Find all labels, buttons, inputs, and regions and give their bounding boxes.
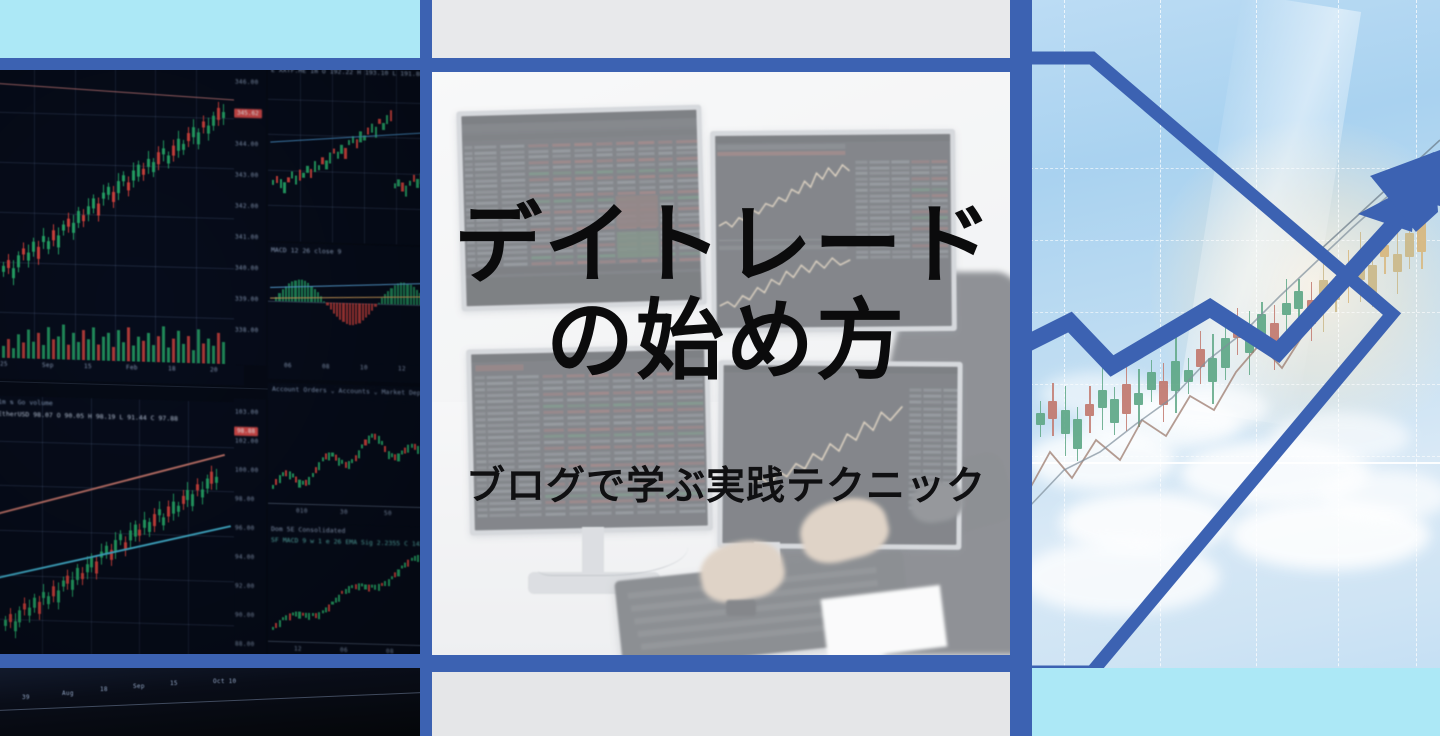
axis-label: 98.00 bbox=[235, 496, 255, 504]
table-row-cell bbox=[576, 199, 594, 203]
volume-bar bbox=[192, 350, 195, 363]
candlestick bbox=[416, 178, 418, 187]
candlestick bbox=[378, 584, 380, 591]
chart-window bbox=[0, 69, 236, 368]
table-row-cell bbox=[591, 506, 611, 509]
diamond-frame-overlay bbox=[1020, 0, 1440, 736]
table-row-cell bbox=[591, 488, 611, 491]
candle-wick bbox=[193, 119, 194, 144]
table-row-cell bbox=[923, 413, 941, 416]
table-row-cell bbox=[923, 457, 941, 460]
candlestick bbox=[358, 584, 360, 591]
candle-wick bbox=[68, 212, 69, 232]
table-row-cell bbox=[678, 190, 700, 194]
macd-histogram-bar bbox=[310, 286, 312, 302]
table-row-cell bbox=[545, 501, 565, 504]
macd-histogram-bar bbox=[381, 298, 383, 304]
wristwatch bbox=[726, 600, 756, 616]
table-row-cell bbox=[911, 171, 929, 174]
candlestick bbox=[112, 192, 115, 202]
axis-label: 06 bbox=[284, 362, 292, 369]
candle-wick bbox=[163, 140, 164, 161]
table-row-cell bbox=[589, 374, 609, 377]
candlestick bbox=[333, 149, 335, 154]
table-row-cell bbox=[636, 457, 654, 460]
table-row-cell bbox=[555, 238, 573, 242]
table-row-cell bbox=[932, 205, 948, 208]
table-row-cell bbox=[567, 380, 585, 383]
table-row-cell bbox=[615, 499, 633, 502]
axis-label: 18 bbox=[168, 365, 176, 372]
table-row-cell bbox=[943, 438, 958, 441]
table-row-cell bbox=[529, 177, 549, 181]
table-row-cell bbox=[528, 149, 548, 153]
table-row-cell bbox=[503, 229, 527, 233]
volume-bar bbox=[122, 343, 125, 362]
candlestick bbox=[37, 247, 40, 259]
table-row-cell bbox=[475, 406, 485, 409]
table-row-cell bbox=[598, 192, 614, 195]
candlestick bbox=[394, 183, 396, 188]
table-row-cell bbox=[465, 180, 473, 183]
table-row-cell bbox=[476, 460, 486, 463]
table-row-cell bbox=[477, 229, 499, 233]
macd-histogram-bar bbox=[378, 302, 380, 303]
current-price-tag: 345.62 bbox=[234, 109, 262, 119]
candlestick bbox=[407, 445, 409, 453]
table-row-cell bbox=[614, 421, 632, 424]
table-row-cell bbox=[678, 426, 704, 430]
axis-label: 88.00 bbox=[235, 641, 255, 649]
chart-title-bar: E XXTF.ME 1m O 192.22 H 193.10 L 191.88 … bbox=[271, 69, 421, 79]
table-row-cell bbox=[589, 416, 609, 419]
axis-label: 100.00 bbox=[235, 467, 258, 475]
candlestick bbox=[107, 187, 110, 195]
table-row-cell bbox=[856, 228, 868, 231]
table-row-cell bbox=[576, 221, 594, 225]
candlestick bbox=[401, 566, 403, 569]
monitor-bezel-lower: 39 Aug 18 Sep 15 Oct 10 bbox=[0, 668, 421, 736]
table-row-cell bbox=[912, 227, 930, 230]
table-row-cell bbox=[892, 222, 910, 225]
volume-bar bbox=[162, 326, 165, 362]
candlestick bbox=[302, 612, 304, 615]
table-row-cell bbox=[517, 405, 539, 408]
candlestick bbox=[27, 253, 30, 261]
table-row-cell bbox=[478, 514, 488, 517]
candlestick bbox=[345, 588, 347, 593]
table-row-cell bbox=[519, 471, 541, 474]
table-row-cell bbox=[932, 210, 948, 213]
table-row-cell bbox=[597, 170, 613, 173]
candle-wick bbox=[58, 227, 59, 254]
candlestick bbox=[87, 206, 90, 214]
table-row-cell bbox=[477, 484, 487, 487]
table-row-cell bbox=[518, 441, 540, 444]
candlestick bbox=[132, 170, 135, 180]
candlestick bbox=[153, 514, 156, 526]
candlestick bbox=[391, 454, 393, 458]
axis-label: 342.00 bbox=[235, 203, 258, 211]
candlestick bbox=[177, 139, 180, 151]
table-row-cell bbox=[519, 477, 541, 480]
table-row-cell bbox=[677, 396, 703, 400]
table-row-cell bbox=[856, 194, 868, 197]
candlestick bbox=[331, 453, 333, 457]
table-row-cell bbox=[870, 233, 890, 236]
table-row-cell bbox=[543, 393, 563, 396]
table-row-cell bbox=[909, 426, 921, 429]
candlestick bbox=[66, 575, 69, 583]
table-row-cell bbox=[466, 208, 474, 211]
table-row-cell bbox=[503, 257, 527, 261]
volume-bar bbox=[187, 336, 190, 364]
table-row-cell bbox=[501, 156, 525, 160]
table-row-cell bbox=[678, 207, 700, 211]
candlestick bbox=[355, 455, 357, 461]
table-row-cell bbox=[639, 186, 655, 189]
volume-bar bbox=[2, 346, 5, 358]
candlestick bbox=[361, 584, 363, 587]
table-row-cell bbox=[517, 399, 539, 402]
volume-bar bbox=[177, 330, 180, 363]
candlestick bbox=[82, 215, 85, 221]
table-row-cell bbox=[519, 489, 541, 492]
table-row-cell bbox=[892, 188, 910, 191]
table-row-cell bbox=[636, 433, 654, 436]
table-row-cell bbox=[912, 177, 930, 180]
candle-wick bbox=[43, 228, 44, 249]
table-row-cell bbox=[477, 496, 487, 499]
table-row-cell bbox=[568, 428, 586, 431]
table-row-cell bbox=[856, 239, 868, 242]
table-row-cell bbox=[529, 155, 549, 159]
table-row-cell bbox=[891, 172, 909, 175]
candlestick bbox=[167, 507, 170, 517]
candlestick bbox=[295, 477, 297, 483]
candle-wick bbox=[133, 162, 134, 187]
table-row-cell bbox=[503, 234, 527, 238]
candlestick bbox=[338, 458, 340, 466]
table-row-cell bbox=[545, 465, 565, 468]
axis-label: 346.00 bbox=[235, 79, 258, 87]
table-row-cell bbox=[678, 462, 704, 466]
table-row-cell bbox=[658, 426, 674, 429]
table-row-cell bbox=[517, 393, 539, 396]
table-row-cell bbox=[531, 233, 551, 237]
table-row-cell bbox=[943, 395, 957, 398]
macd-histogram-bar bbox=[358, 303, 360, 323]
axis-label: 344.00 bbox=[235, 141, 258, 149]
table-row-cell bbox=[909, 432, 921, 435]
candlestick bbox=[295, 612, 297, 617]
table-row-cell bbox=[590, 422, 610, 425]
table-row-cell bbox=[477, 472, 487, 475]
candlestick bbox=[325, 608, 327, 613]
table-row-cell bbox=[476, 418, 486, 421]
table-row-cell bbox=[590, 446, 610, 449]
table-row-cell bbox=[531, 228, 551, 232]
candlestick bbox=[381, 441, 383, 445]
candlestick bbox=[368, 585, 370, 592]
table-row-cell bbox=[676, 140, 698, 144]
left-panel-top-border bbox=[0, 58, 432, 70]
candlestick bbox=[364, 439, 366, 445]
volume-bar bbox=[207, 339, 210, 364]
candlestick bbox=[157, 152, 160, 164]
table-row-cell bbox=[931, 171, 947, 174]
table-row-cell bbox=[679, 498, 705, 502]
banner-canvas: 346.00345.50344.00343.00342.00341.00340.… bbox=[0, 0, 1440, 736]
volume-bar bbox=[107, 333, 110, 361]
candle-wick bbox=[144, 511, 145, 534]
candlestick bbox=[142, 169, 145, 175]
table-row-cell bbox=[568, 458, 586, 461]
candle-wick bbox=[153, 158, 154, 177]
candle-wick bbox=[168, 501, 169, 523]
table-row-cell bbox=[591, 476, 611, 479]
candlestick bbox=[42, 592, 45, 598]
candle-wick bbox=[197, 479, 198, 497]
table-row-cell bbox=[598, 209, 614, 212]
table-row-cell bbox=[679, 246, 701, 250]
candlestick bbox=[378, 436, 380, 444]
table-row-cell bbox=[613, 397, 631, 400]
table-row-cell bbox=[475, 388, 485, 391]
table-row-cell bbox=[489, 496, 515, 500]
table-row-cell bbox=[518, 423, 540, 426]
candlestick bbox=[312, 613, 314, 616]
table-row-cell bbox=[615, 487, 633, 490]
candlestick bbox=[287, 177, 289, 182]
macd-histogram-bar bbox=[323, 301, 325, 302]
left-chart-cluster: 346.00345.50344.00343.00342.00341.00340.… bbox=[0, 69, 421, 655]
table-row-cell bbox=[487, 406, 513, 410]
left-photo-panel: 346.00345.50344.00343.00342.00341.00340.… bbox=[0, 0, 432, 736]
table-row-cell bbox=[657, 390, 673, 393]
table-row-cell bbox=[577, 232, 595, 236]
candlestick bbox=[182, 496, 185, 504]
volume-bar bbox=[7, 339, 10, 358]
volume-bar bbox=[202, 343, 205, 363]
axis-label: 90.00 bbox=[235, 612, 255, 620]
volume-bar bbox=[137, 336, 140, 361]
candle-wick bbox=[13, 260, 14, 285]
candlestick bbox=[14, 622, 17, 632]
center-panel-top-border bbox=[432, 58, 1020, 72]
table-row-cell bbox=[679, 468, 705, 472]
candlestick bbox=[312, 473, 314, 477]
candle-wick bbox=[108, 183, 109, 200]
candlestick bbox=[340, 144, 342, 153]
table-row-cell bbox=[599, 254, 615, 257]
volume-bar bbox=[117, 330, 120, 361]
table-row-cell bbox=[597, 187, 613, 190]
macd-histogram-bar bbox=[326, 302, 328, 305]
candlestick bbox=[97, 203, 100, 215]
table-row-cell bbox=[597, 181, 613, 184]
candlestick bbox=[158, 510, 161, 516]
table-row-cell bbox=[931, 166, 947, 169]
table-row-cell bbox=[658, 450, 674, 453]
table-row-cell bbox=[487, 394, 513, 398]
candlestick bbox=[182, 144, 185, 150]
grid-line bbox=[0, 262, 236, 270]
table-row-cell bbox=[678, 218, 700, 222]
axis-label: 341.00 bbox=[235, 234, 258, 242]
candlestick bbox=[186, 490, 189, 500]
chart-window: 346.00345.50344.00343.00342.00341.00340.… bbox=[234, 69, 266, 365]
table-row-cell bbox=[923, 407, 941, 410]
center-panel-bottom-border bbox=[432, 655, 1020, 672]
table-row-cell bbox=[658, 444, 674, 447]
macd-histogram-bar bbox=[403, 283, 405, 305]
candlestick bbox=[391, 576, 393, 579]
candlestick bbox=[62, 581, 65, 587]
table-row-cell bbox=[502, 217, 526, 221]
table-row-cell bbox=[659, 510, 675, 513]
table-row-cell bbox=[678, 456, 704, 460]
candle-wick bbox=[178, 131, 179, 158]
axis-label: 102.00 bbox=[235, 438, 258, 446]
table-row-cell bbox=[639, 169, 655, 172]
table-row-cell bbox=[660, 213, 674, 216]
candlestick bbox=[328, 605, 330, 612]
table-row-cell bbox=[545, 471, 565, 474]
table-row-cell bbox=[659, 174, 673, 177]
candle-wick bbox=[53, 224, 54, 246]
table-row-cell bbox=[544, 453, 564, 456]
table-row-cell bbox=[467, 230, 475, 233]
table-row-cell bbox=[613, 403, 631, 406]
candlestick bbox=[302, 480, 304, 484]
table-row-cell bbox=[637, 475, 655, 478]
table-row-cell bbox=[575, 187, 593, 191]
candlestick bbox=[298, 612, 300, 619]
table-row-cell bbox=[659, 504, 675, 507]
table-row-cell bbox=[659, 492, 675, 495]
table-row-cell bbox=[554, 216, 572, 220]
table-row-cell bbox=[661, 252, 675, 255]
axis-label: 103.00 bbox=[235, 409, 258, 417]
macd-histogram-bar bbox=[400, 283, 402, 305]
monitor-top-right-screen bbox=[715, 134, 952, 328]
table-row-cell bbox=[577, 227, 595, 231]
table-row-cell bbox=[614, 451, 632, 454]
table-row-cell bbox=[591, 494, 611, 497]
table-row-cell bbox=[891, 160, 909, 163]
volume-bar bbox=[127, 327, 130, 361]
table-row-cell bbox=[659, 480, 675, 483]
table-row-cell bbox=[464, 152, 472, 155]
candle-wick bbox=[106, 542, 107, 559]
volume-bar bbox=[157, 336, 160, 362]
table-row-cell bbox=[590, 428, 610, 431]
table-row-cell bbox=[636, 445, 654, 448]
table-row-cell bbox=[636, 463, 654, 466]
candlestick bbox=[322, 610, 324, 613]
candlestick bbox=[62, 224, 65, 230]
table-row-cell bbox=[892, 256, 910, 259]
candlestick bbox=[23, 603, 26, 609]
left-panel-right-border bbox=[420, 0, 432, 736]
candle-wick bbox=[183, 490, 184, 510]
table-row-cell bbox=[465, 168, 473, 171]
table-row-cell bbox=[635, 403, 653, 406]
table-row-cell bbox=[617, 158, 635, 162]
table-row-cell bbox=[870, 222, 890, 225]
table-row-cell bbox=[477, 490, 487, 493]
candle-wick bbox=[192, 491, 193, 512]
table-row-cell bbox=[661, 230, 675, 233]
candlestick bbox=[167, 156, 170, 164]
table-row-cell bbox=[567, 386, 585, 389]
table-row-cell bbox=[500, 150, 524, 154]
candle-wick bbox=[187, 482, 188, 507]
candlestick bbox=[289, 613, 291, 620]
candlestick bbox=[4, 620, 7, 626]
table-row-cell bbox=[503, 245, 527, 249]
table-row-cell bbox=[855, 166, 867, 169]
table-row-cell bbox=[529, 183, 549, 187]
macd-histogram-bar bbox=[371, 304, 373, 311]
table-row-cell bbox=[892, 250, 910, 253]
table-row-cell bbox=[468, 264, 476, 267]
candlestick bbox=[172, 145, 175, 155]
table-row-cell bbox=[570, 512, 588, 515]
table-row-cell bbox=[909, 438, 921, 441]
table-row-cell bbox=[475, 157, 497, 161]
table-row-cell bbox=[487, 376, 513, 380]
candlestick bbox=[291, 172, 293, 179]
candlestick bbox=[348, 140, 350, 145]
table-row-cell bbox=[943, 476, 958, 479]
candle-wick bbox=[34, 593, 35, 612]
table-row-cell bbox=[943, 426, 957, 429]
candlestick bbox=[305, 480, 307, 486]
candlestick bbox=[282, 472, 284, 476]
table-row-cell bbox=[465, 174, 473, 177]
grid-line bbox=[155, 69, 156, 366]
axis-label: 92.00 bbox=[235, 583, 255, 591]
table-row-cell bbox=[856, 200, 868, 203]
table-row-cell bbox=[589, 392, 609, 395]
table-row-cell bbox=[466, 224, 474, 227]
table-row-cell bbox=[635, 415, 653, 418]
candlestick bbox=[285, 615, 287, 620]
candlestick bbox=[411, 558, 413, 561]
macd-histogram-bar bbox=[346, 303, 348, 324]
candle-wick bbox=[123, 171, 124, 186]
table-row-cell bbox=[489, 484, 515, 488]
table-row-cell bbox=[909, 450, 921, 453]
table-row-cell bbox=[502, 223, 526, 227]
table-row-cell bbox=[659, 486, 675, 489]
candlestick bbox=[72, 223, 75, 233]
candlestick bbox=[18, 610, 21, 622]
candlestick bbox=[322, 457, 324, 461]
candlestick bbox=[127, 183, 130, 191]
table-row-cell bbox=[530, 217, 550, 221]
candle-wick bbox=[143, 163, 144, 181]
candlestick bbox=[384, 581, 386, 586]
table-row-cell bbox=[487, 382, 513, 386]
candlestick bbox=[310, 169, 312, 178]
candlestick bbox=[351, 585, 353, 588]
candlestick bbox=[394, 454, 396, 460]
table-row-cell bbox=[503, 262, 527, 266]
table-row-cell bbox=[614, 457, 632, 460]
